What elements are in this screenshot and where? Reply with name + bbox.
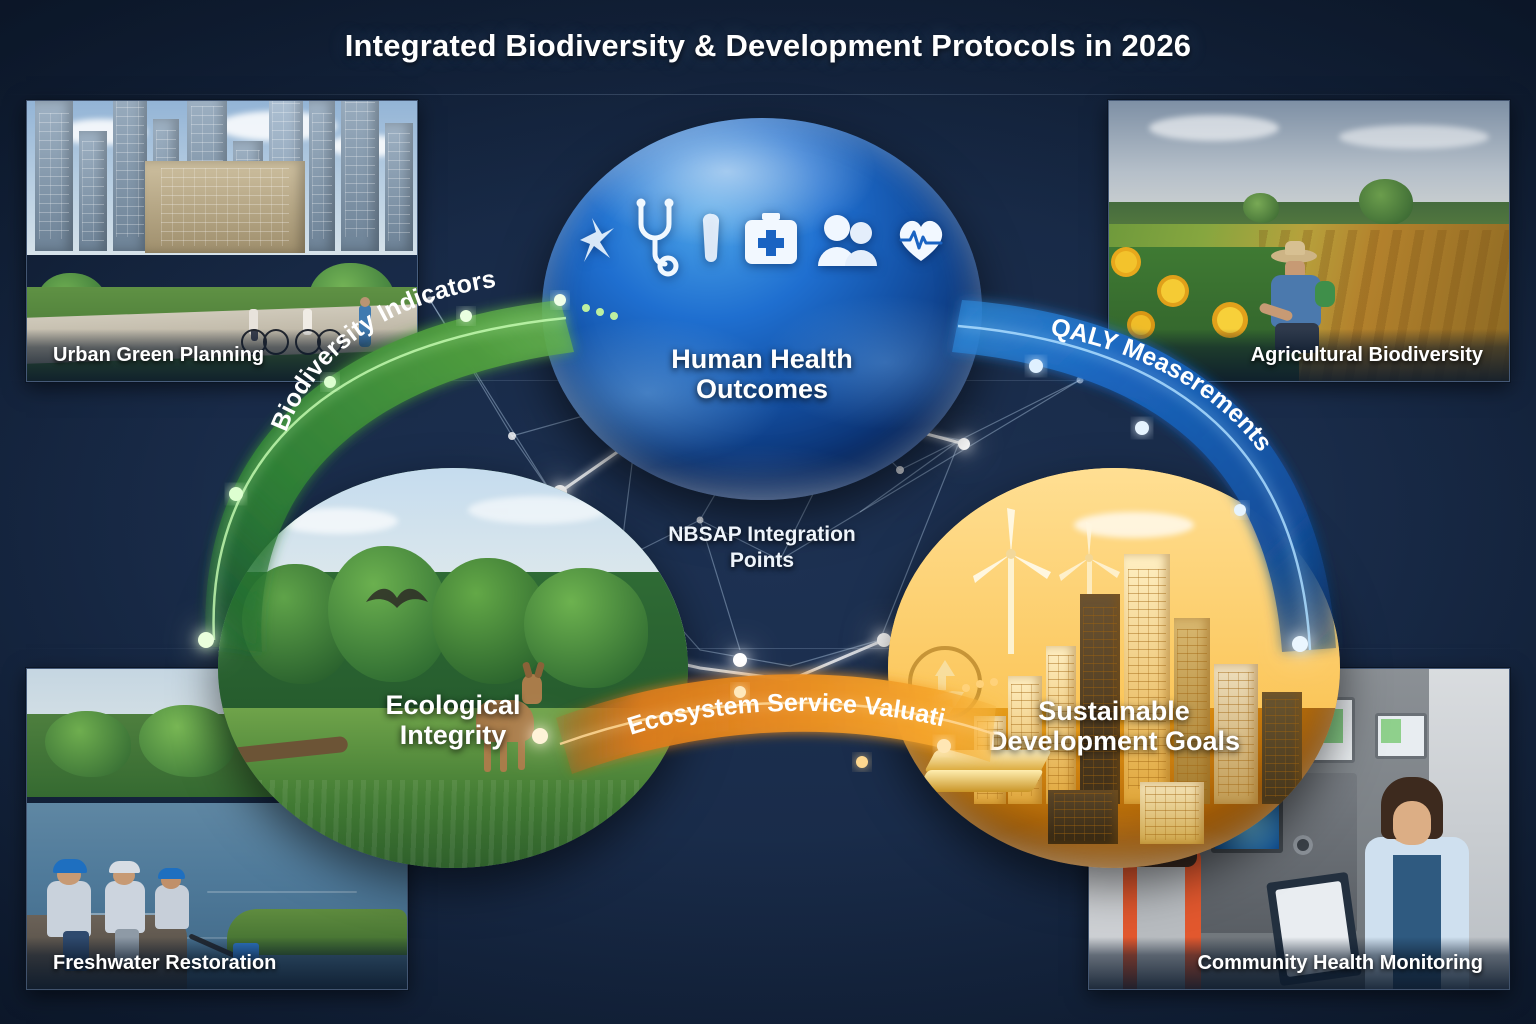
- arc-biodiversity-indicators: Biodiversity Indicators: [198, 265, 618, 652]
- arc-qaly-measurements: QALY Measerements: [952, 300, 1336, 652]
- arc-ecosystem-service-valuations: Ecosystem Service Valuations: [0, 0, 998, 774]
- infographic-canvas: Integrated Biodiversity & Development Pr…: [0, 0, 1536, 1024]
- center-label-nbsap-integration-points: NBSAP Integration Points: [612, 522, 912, 575]
- page-title: Integrated Biodiversity & Development Pr…: [0, 0, 1536, 92]
- connector-arcs: Biodiversity Indicators QALY Measerement…: [0, 0, 1536, 1024]
